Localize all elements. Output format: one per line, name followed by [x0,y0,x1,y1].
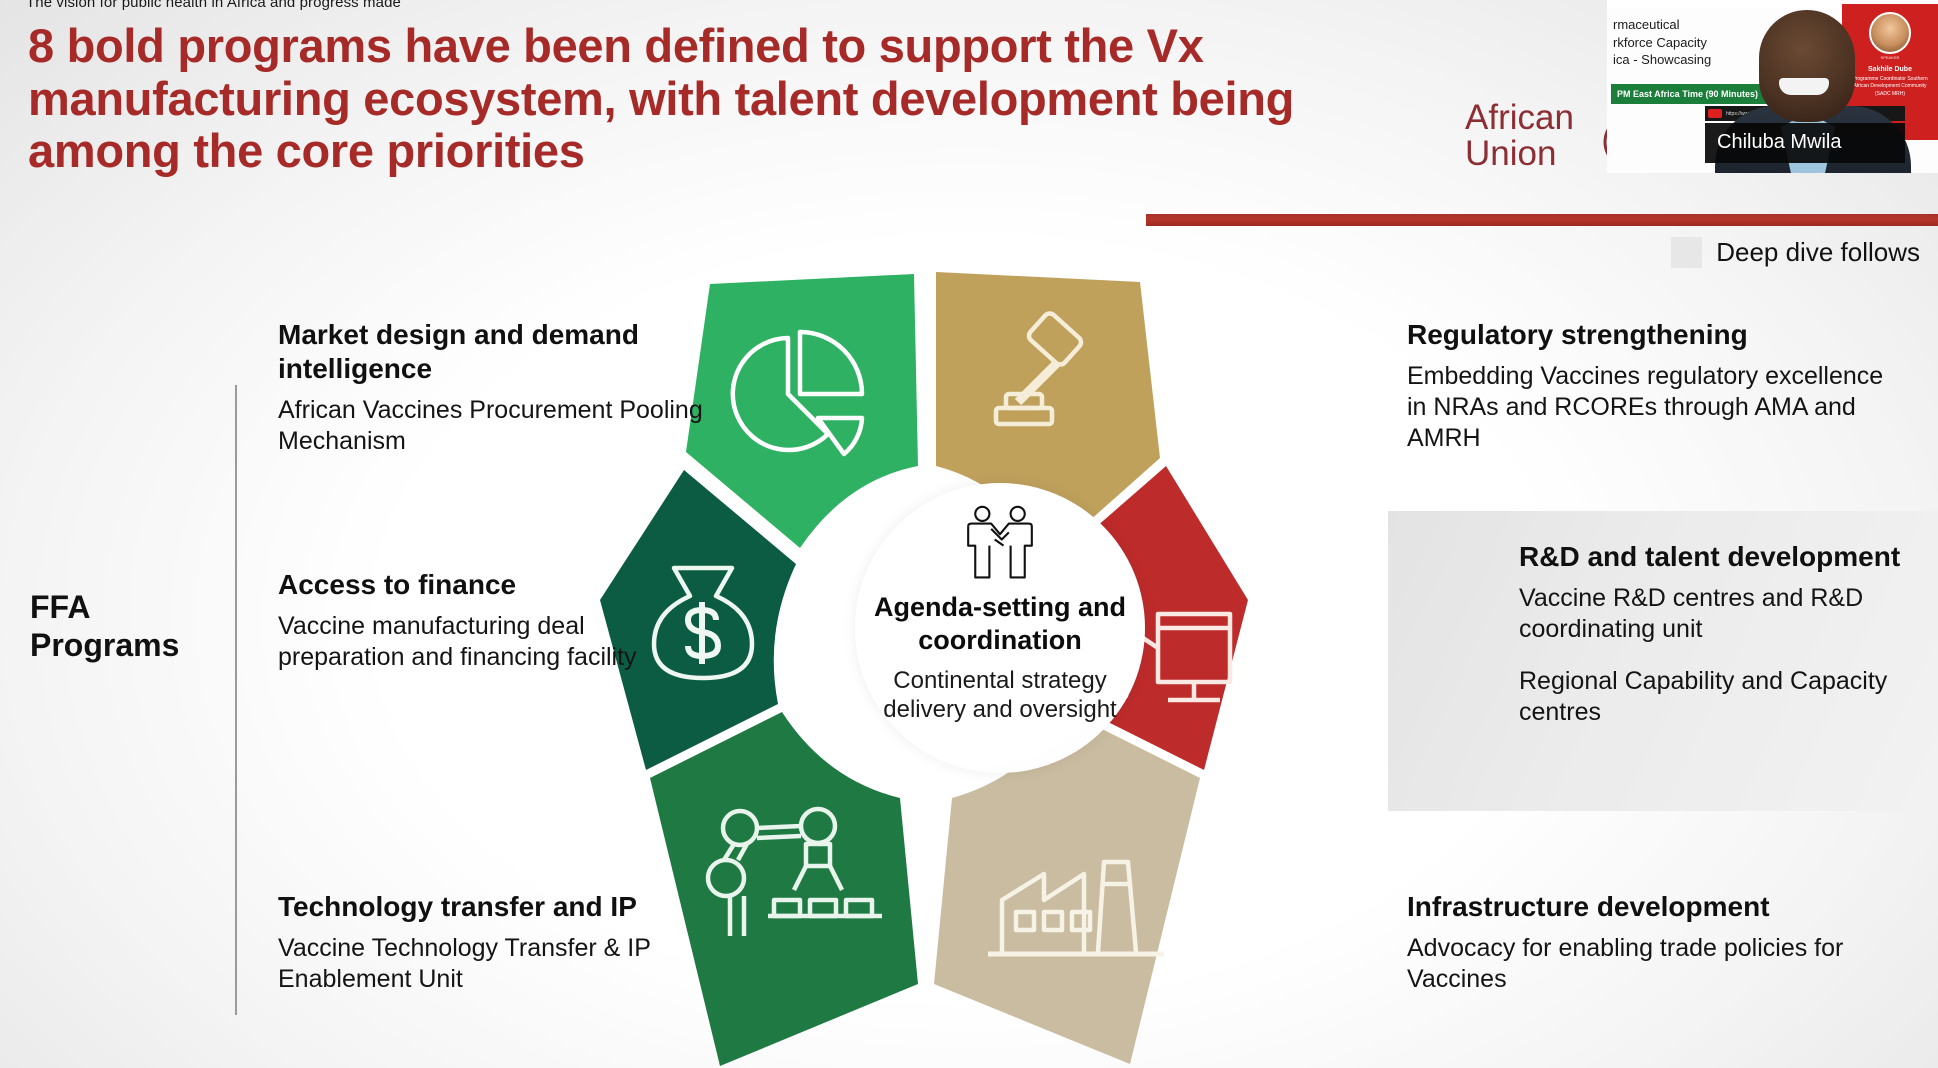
program-block-rnd: R&D and talent development Vaccine R&D c… [1519,540,1919,728]
program-block-access-to-finance: Access to finance Vaccine manufacturing … [278,568,678,673]
program-body: Advocacy for enabling trade policies for… [1407,933,1917,995]
page-title: 8 bold programs have been defined to sup… [28,20,1428,178]
program-heading: R&D and talent development [1519,540,1919,574]
legend-label: Deep dive follows [1716,237,1920,268]
african-union-logo: African Union [1465,100,1615,182]
program-body: Vaccine Technology Transfer & IP Enablem… [278,933,758,995]
slide-canvas: The vision for public health in Africa a… [0,0,1938,1068]
au-line2: Union [1465,136,1574,172]
ffa-label-line1: FFA [30,588,200,626]
program-body: Vaccine R&D centres and R&D coordinating… [1519,583,1919,645]
program-body: Regional Capability and Capacity centres [1519,666,1919,728]
speaker-name-label: Chiluba Mwila [1717,131,1842,154]
breadcrumb: The vision for public health in Africa a… [26,0,401,11]
african-union-wordmark: African Union [1465,100,1574,172]
au-line1: African [1465,100,1574,136]
speaker-head [1759,10,1855,122]
legend: Deep dive follows [1671,237,1920,268]
petal-technology-transfer [650,712,918,1066]
program-heading: Market design and demand intelligence [278,318,748,386]
program-block-regulatory: Regulatory strengthening Embedding Vacci… [1407,318,1907,454]
program-body: African Vaccines Procurement Pooling Mec… [278,395,748,457]
handshake-icon [955,505,1045,581]
program-heading: Infrastructure development [1407,890,1917,924]
program-block-market-design: Market design and demand intelligence Af… [278,318,748,457]
program-body: Vaccine manufacturing deal preparation a… [278,611,678,673]
ffa-label-line2: Programs [30,626,200,664]
centre-subtitle: Continental strategy delivery and oversi… [864,666,1136,725]
centre-hub: Agenda-setting and coordination Continen… [855,483,1145,773]
ffa-divider [235,385,237,1015]
program-body: Embedding Vaccines regulatory excellence… [1407,361,1907,454]
program-block-infrastructure: Infrastructure development Advocacy for … [1407,890,1917,995]
video-overlay[interactable]: ASSOCIATION CEPA African Union AFRICA CD… [1607,0,1938,173]
program-heading: Technology transfer and IP [278,890,758,924]
ffa-programs-label: FFA Programs [30,588,200,665]
legend-swatch-icon [1671,237,1702,268]
program-block-technology-transfer: Technology transfer and IP Vaccine Techn… [278,890,758,995]
program-heading: Regulatory strengthening [1407,318,1907,352]
program-heading: Access to finance [278,568,678,602]
speaker-mouth [1779,78,1829,95]
header-red-rule [1146,214,1938,226]
centre-title: Agenda-setting and coordination [870,591,1130,658]
